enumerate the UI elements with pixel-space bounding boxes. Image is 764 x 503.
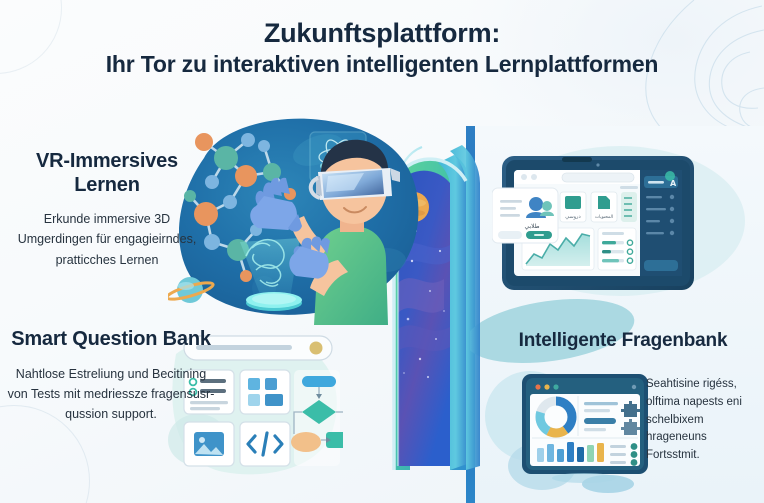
svg-text:طلابي: طلابي bbox=[524, 223, 539, 230]
svg-text:المحتويات: المحتويات bbox=[595, 215, 613, 220]
title-line-1: Zukunftsplattform: bbox=[0, 18, 764, 48]
poster-title: Zukunftsplattform: Ihr Tor zu interaktiv… bbox=[0, 18, 764, 79]
poster-canvas: Zukunftsplattform: Ihr Tor zu interaktiv… bbox=[0, 0, 764, 503]
analytics-dashboard-illustration bbox=[508, 366, 660, 496]
section-vr-immersive: VR-Immersives Lernen Erkunde immersive 3… bbox=[8, 150, 206, 270]
question-bank-body: Nahtlose Estreliung und Becitining von T… bbox=[4, 364, 218, 425]
section-smart-question-bank: Smart Question Bank Nahtlose Estreliung … bbox=[4, 328, 218, 424]
svg-text:دروسي: دروسي bbox=[565, 214, 580, 220]
title-line-2: Ihr Tor zu interaktiven intelligenten Le… bbox=[0, 50, 764, 79]
question-bank-heading: Smart Question Bank bbox=[4, 328, 218, 352]
vr-learning-illustration bbox=[168, 110, 428, 325]
section-intelligente-fragenbank: Intelligente Fragenbank Seahtisine rigés… bbox=[486, 330, 760, 352]
vr-heading: VR-Immersives Lernen bbox=[8, 150, 206, 197]
fragenbank-body: Seahtisine rigéss, olftima napests eni s… bbox=[646, 376, 758, 465]
vr-body: Erkunde immersive 3D Umgerdingen für eng… bbox=[8, 209, 206, 270]
tablet-dashboard-illustration: A دروسي المحتويات bbox=[492, 148, 702, 303]
fragenbank-heading: Intelligente Fragenbank bbox=[486, 330, 760, 352]
